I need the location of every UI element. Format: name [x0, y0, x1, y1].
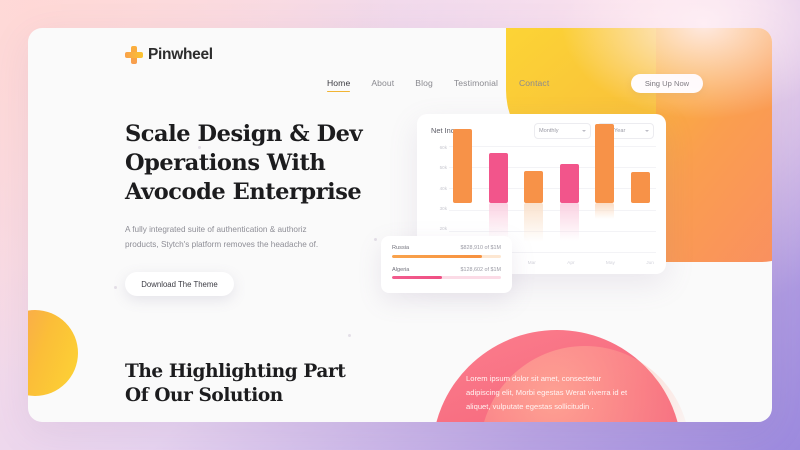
- y-tick: 20k: [429, 227, 447, 232]
- nav-item-testimonial[interactable]: Testimonial: [454, 78, 498, 92]
- nav-item-blog[interactable]: Blog: [415, 78, 433, 92]
- stat-country-name: Algeria: [392, 267, 409, 273]
- stat-country-name: Russia: [392, 245, 409, 251]
- period-select[interactable]: Monthly: [534, 123, 591, 139]
- bar-group[interactable]: [524, 146, 543, 252]
- progress-fill: [392, 276, 442, 279]
- download-theme-button[interactable]: Download The Theme: [125, 272, 234, 296]
- chevron-down-icon: [582, 130, 586, 132]
- hero-section: Scale Design & Dev Operations With Avoco…: [125, 120, 375, 296]
- nav-item-home[interactable]: Home: [327, 78, 350, 92]
- bar-segment-solid: [524, 171, 543, 204]
- headline-line-2: Operations With: [125, 150, 325, 176]
- page-title: Scale Design & Dev Operations With Avoco…: [125, 120, 375, 207]
- progress-fill: [392, 255, 482, 258]
- bar-segment-solid: [489, 153, 508, 203]
- subcopy-line-1: A fully integrated suite of authenticati…: [125, 225, 307, 234]
- y-tick: 30k: [429, 207, 447, 212]
- bar-group[interactable]: [631, 146, 650, 252]
- sign-up-button[interactable]: Sing Up Now: [631, 74, 703, 93]
- stat-header: Algeria$128,602 of $1M: [392, 267, 501, 273]
- page-background: Pinwheel Home About Blog Testimonial Con…: [0, 0, 800, 450]
- period-select-value: Monthly: [539, 128, 559, 134]
- bar-segment-faded: [489, 203, 508, 239]
- chart-filters: Monthly Last Year: [534, 123, 654, 139]
- x-tick: Jun: [646, 261, 654, 266]
- speck-decoration: [348, 334, 351, 337]
- headline-line-3: Avocode Enterprise: [125, 179, 361, 205]
- website-canvas: Pinwheel Home About Blog Testimonial Con…: [28, 28, 772, 422]
- nav-item-contact[interactable]: Contact: [519, 78, 549, 92]
- progress-track: [392, 255, 501, 258]
- bar-segment-solid: [595, 124, 614, 204]
- country-progress-card: Russia$828,910 of $1MAlgeria$128,602 of …: [381, 236, 512, 293]
- progress-track: [392, 276, 501, 279]
- stat-amount: $828,910 of $1M: [461, 245, 501, 251]
- paragraph-line-1: Lorem ipsum dolor sit amet, consectetur: [466, 374, 601, 383]
- brand-logo[interactable]: Pinwheel: [125, 46, 213, 64]
- bar-segment-faded: [560, 203, 579, 240]
- hero-subcopy: A fully integrated suite of authenticati…: [125, 223, 351, 252]
- paragraph-line-3: aliquet, vulputate egestas sollicitudin …: [466, 402, 594, 411]
- section-heading: The Highlighting Part Of Our Solution: [125, 360, 355, 408]
- x-tick: Mar: [528, 261, 536, 266]
- brand-name: Pinwheel: [148, 46, 213, 64]
- x-tick: May: [606, 261, 615, 266]
- bar-segment-faded: [524, 203, 543, 242]
- stat-row: Algeria$128,602 of $1M: [392, 267, 501, 280]
- section-heading-line-1: The Highlighting Part: [125, 361, 345, 382]
- nav-item-about[interactable]: About: [371, 78, 394, 92]
- y-tick: 40k: [429, 187, 447, 192]
- y-tick: 60k: [429, 146, 447, 151]
- bar-group[interactable]: [595, 146, 614, 252]
- stat-header: Russia$828,910 of $1M: [392, 245, 501, 251]
- speck-decoration: [114, 286, 117, 289]
- stat-row: Russia$828,910 of $1M: [392, 245, 501, 258]
- subcopy-line-2: products, Stytch's platform removes the …: [125, 240, 318, 249]
- main-nav: Home About Blog Testimonial Contact: [327, 78, 549, 92]
- chevron-down-icon: [645, 130, 649, 132]
- paragraph-line-2: adipiscing elit, Morbi egestas Werat viv…: [466, 388, 627, 397]
- section-heading-line-2: Of Our Solution: [125, 385, 283, 406]
- bar-segment-solid: [560, 164, 579, 203]
- bar-segment-faded: [595, 203, 614, 219]
- section-paragraph: Lorem ipsum dolor sit amet, consectetur …: [466, 372, 652, 415]
- yellow-circle-decoration: [28, 310, 78, 396]
- x-tick: Apr: [567, 261, 574, 266]
- bar-segment-solid: [453, 129, 472, 204]
- bar-segment-solid: [631, 172, 650, 203]
- y-tick: 50k: [429, 166, 447, 171]
- bar-group[interactable]: [560, 146, 579, 252]
- site-header: Pinwheel Home About Blog Testimonial Con…: [28, 28, 772, 86]
- pinwheel-plus-icon: [125, 46, 143, 64]
- headline-line-1: Scale Design & Dev: [125, 121, 362, 147]
- stat-amount: $128,602 of $1M: [461, 267, 501, 273]
